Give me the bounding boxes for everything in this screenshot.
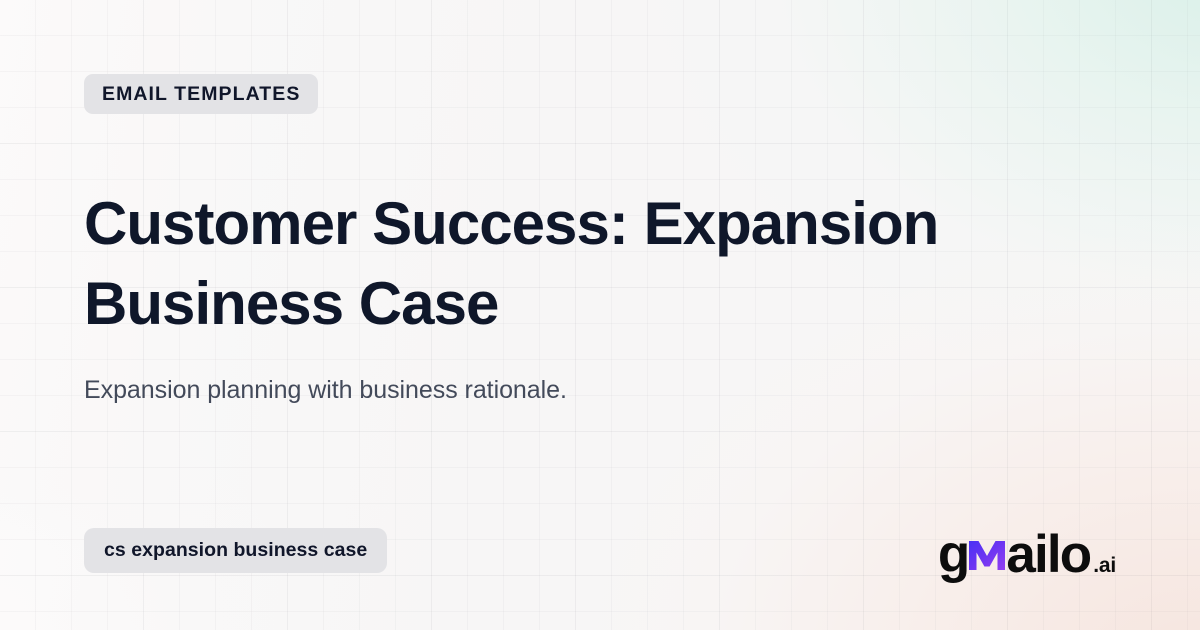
brand-prefix: g xyxy=(938,528,969,581)
brand-middle: ailo xyxy=(1006,528,1090,581)
brand-wordmark: g ailo .ai xyxy=(938,528,1116,581)
brand-logo: g ailo .ai xyxy=(938,528,1116,581)
page-title: Customer Success: Expansion Business Cas… xyxy=(84,184,1024,344)
eyebrow-badge-label: EMAIL TEMPLATES xyxy=(102,83,300,106)
slug-badge-label: cs expansion business case xyxy=(104,539,367,562)
brand-suffix: .ai xyxy=(1093,555,1116,576)
gmail-m-icon xyxy=(967,532,1007,572)
card-content: EMAIL TEMPLATES Customer Success: Expans… xyxy=(0,0,1200,630)
template-card: EMAIL TEMPLATES Customer Success: Expans… xyxy=(0,0,1200,630)
eyebrow-badge: EMAIL TEMPLATES xyxy=(84,74,318,114)
slug-badge: cs expansion business case xyxy=(84,528,387,573)
page-subtitle: Expansion planning with business rationa… xyxy=(84,374,567,408)
